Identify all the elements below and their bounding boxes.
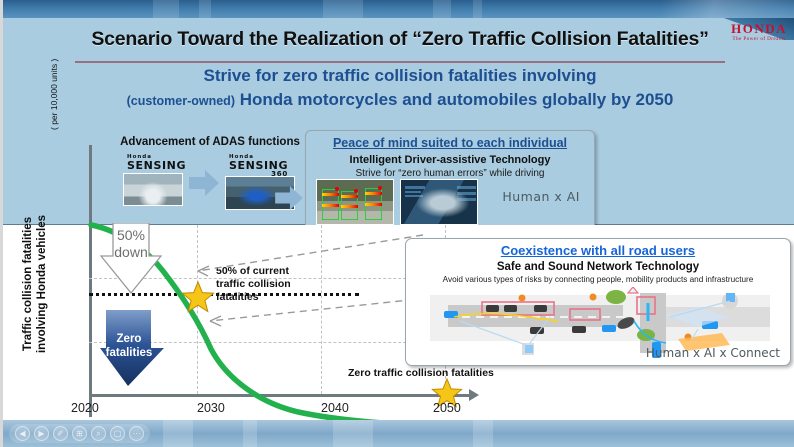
annotation-zero-fatalities-line1: Zero xyxy=(98,332,160,346)
chart-y-axis-units: ( per 10,000 units ) xyxy=(49,10,59,130)
honda-wordmark: HONDA xyxy=(731,21,787,37)
subtitle-main: Honda motorcycles and automobiles global… xyxy=(240,90,674,109)
zoom-tool-icon[interactable]: ⌕ xyxy=(91,426,106,441)
subtitle-line-2: (customer-owned) Honda motorcycles and a… xyxy=(3,90,794,110)
slide-top-band xyxy=(3,0,794,18)
slide-grid-icon[interactable]: ⊞ xyxy=(72,426,87,441)
x-tick-2050: 2050 xyxy=(433,401,461,415)
annotation-zero-fatalities-text: Zero traffic collision fatalities xyxy=(348,367,494,379)
page-title: Scenario Toward the Realization of “Zero… xyxy=(3,28,794,51)
x-tick-2030: 2030 xyxy=(197,401,225,415)
presentation-toolbar[interactable]: ◀ ▶ ✐ ⊞ ⌕ ▢ ⋯ xyxy=(9,424,150,443)
panel-coexistence-tagline: Human x AI x Connect xyxy=(646,346,780,360)
title-underline-rule xyxy=(75,61,725,63)
previous-slide-icon[interactable]: ◀ xyxy=(15,426,30,441)
panel-coexistence-body: Avoid various types of risks by connecti… xyxy=(406,275,790,284)
panel-peace-tagline: Human x AI xyxy=(502,189,580,204)
honda-logo: HONDA The Power of Dreams xyxy=(731,21,787,42)
display-settings-icon[interactable]: ▢ xyxy=(110,426,125,441)
annotation-zero-fatalities-line2: fatalities xyxy=(98,346,160,360)
x-tick-2020: 2020 xyxy=(71,401,99,415)
next-slide-icon[interactable]: ▶ xyxy=(34,426,49,441)
subtitle-line-1: Strive for zero traffic collision fatali… xyxy=(3,66,794,86)
x-tick-2040: 2040 xyxy=(321,401,349,415)
presentation-slide: HONDA The Power of Dreams Scenario Towar… xyxy=(0,0,794,447)
honda-tagline: The Power of Dreams xyxy=(731,36,787,42)
pen-tool-icon[interactable]: ✐ xyxy=(53,426,68,441)
panel-coexistence[interactable]: Coexistence with all road users Safe and… xyxy=(405,238,791,366)
more-options-icon[interactable]: ⋯ xyxy=(129,426,144,441)
subtitle-qualifier: (customer-owned) xyxy=(127,94,235,108)
panel-coexistence-subheading: Safe and Sound Network Technology xyxy=(406,261,790,273)
panel-coexistence-heading: Coexistence with all road users xyxy=(406,243,790,258)
